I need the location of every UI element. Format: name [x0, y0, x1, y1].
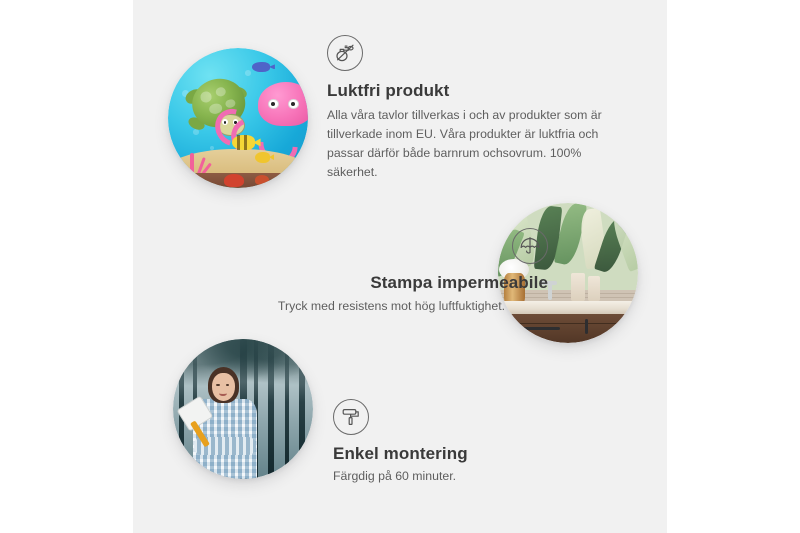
tree-trunk [268, 339, 274, 479]
feature-title: Stampa impermeabile [213, 272, 548, 293]
feature-waterproof-print: Stampa impermeabile Tryck med resistens … [213, 228, 548, 316]
no-odour-spray-bottle-icon [327, 35, 363, 71]
product-feature-banner: Luktfri produkt Alla våra tavlor tillver… [0, 0, 800, 533]
woman-smile [219, 391, 227, 396]
yellow-striped-fish [232, 135, 254, 150]
red-crab [255, 175, 269, 185]
small-yellow-fish [255, 152, 270, 163]
paint-roller-icon [333, 399, 369, 435]
octopus-eye [268, 99, 279, 110]
wooden-vanity-cabinet [506, 314, 638, 343]
door-handle [585, 319, 588, 334]
umbrella-icon [512, 228, 548, 264]
feature-body: Tryck med resistens mot hög luftfuktighe… [213, 297, 548, 316]
underwater-scene-inner [168, 48, 308, 188]
drawer-handle [523, 327, 559, 330]
feature-title: Luktfri produkt [327, 80, 627, 101]
blue-fish [252, 62, 270, 72]
content-panel: Luktfri produkt Alla våra tavlor tillver… [133, 0, 667, 533]
forest-scene-inner [173, 339, 313, 479]
towel-roll [571, 273, 585, 301]
feature-title: Enkel montering [333, 443, 633, 464]
woman-with-paint-roller-forest-photo [173, 339, 313, 479]
shell-spot [214, 86, 226, 98]
shell-spot [224, 98, 235, 108]
woman-eye [226, 384, 230, 386]
faucet-stem [548, 283, 552, 300]
feature-easy-mounting: Enkel montering Färgdig på 60 minuter. [333, 399, 633, 486]
feature-odour-free: Luktfri produkt Alla våra tavlor tillver… [327, 35, 627, 182]
tree-trunk [299, 339, 305, 479]
bubble [245, 70, 251, 76]
underwater-kids-scene-photo [168, 48, 308, 188]
shell-spot [199, 91, 213, 104]
octopus-head [258, 82, 308, 127]
feature-body: Färgdig på 60 minuter. [333, 467, 633, 486]
red-crab [224, 174, 244, 187]
woman-face [212, 373, 234, 401]
woman-eye [216, 384, 220, 386]
feature-body: Alla våra tavlor tillverkas i och av pro… [327, 106, 627, 182]
towel-roll [588, 276, 601, 301]
tree-trunk [285, 339, 289, 479]
octopus-eye [288, 99, 299, 110]
